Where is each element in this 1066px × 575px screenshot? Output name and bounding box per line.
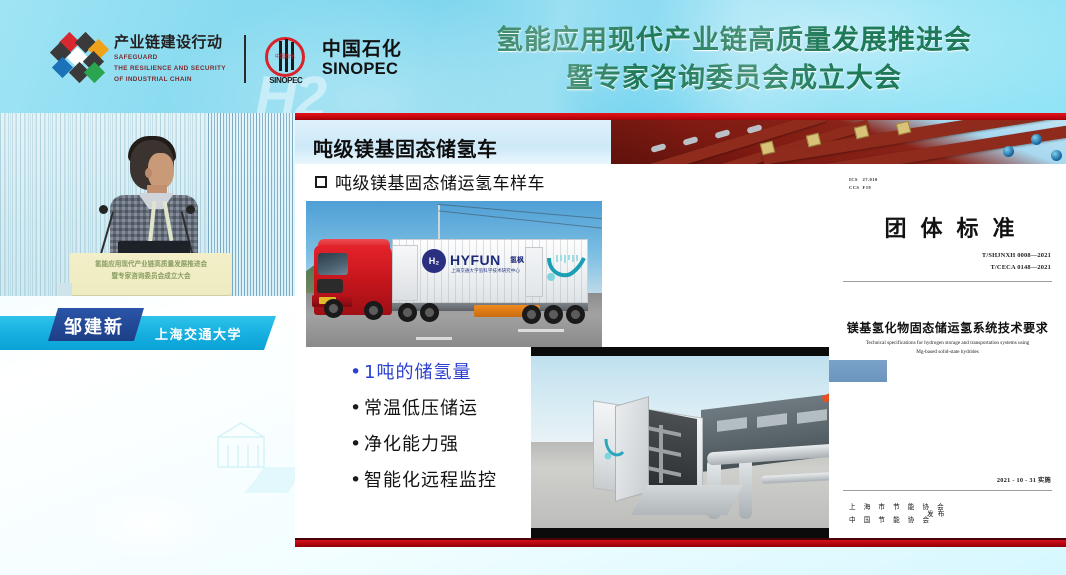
standard-doc-blue-tab — [829, 360, 887, 382]
wheel-rear-1 — [522, 305, 541, 324]
sinopec-cn-label: 中国石化 — [322, 39, 402, 61]
standard-code-1: T/SHJNXH 0008—2021 — [982, 250, 1051, 262]
standard-big-title: 团体标准 — [859, 211, 1054, 243]
slide-bullet-list: • 1吨的储氢量 • 常温低压储运 • 净化能力强 • 智能化远程监控 — [350, 358, 497, 502]
truck-grille — [317, 279, 343, 293]
background-decoration-icon — [210, 415, 306, 495]
speaker-name: 邹建新 — [64, 313, 124, 339]
bullet-item-2: • 常温低压储运 — [350, 394, 497, 420]
wheel-mid-2 — [420, 303, 439, 322]
podium-banner-text: 氢能应用现代产业链高质量发展推进会 暨专家咨询委员会成立大会 — [70, 259, 232, 282]
bullet-item-1: • 1吨的储氢量 — [350, 358, 497, 384]
speaker-name-plate: 邹建新 — [48, 308, 144, 341]
wheel-rear-2 — [544, 305, 563, 324]
standard-cn-title: 镁基氢化物固态储运氢系统技术要求 — [837, 319, 1058, 336]
truck-cab-window — [318, 253, 348, 275]
slide-top-red-bar — [295, 113, 1066, 120]
sinopec-en-label: SINOPEC — [322, 60, 402, 79]
safeguard-en-line1: SAFEGUARD — [114, 53, 226, 62]
standard-divider-top — [843, 281, 1052, 282]
sinopec-logo-text: 中国石化 SINOPEC — [322, 39, 402, 80]
conference-title-line1: 氢能应用现代产业链高质量发展推进会 — [424, 22, 1044, 60]
bullet-text-4: 智能化远程监控 — [364, 466, 497, 492]
truck-photo[interactable]: H₂ HYFUN 氢枫 上海交通大学氢科学技术研究中心 — [306, 201, 602, 347]
bullet-text-1: 1吨的储氢量 — [364, 358, 471, 384]
speaker-ear — [145, 168, 152, 178]
slide-title: 吨级镁基固态储氢车 — [313, 133, 498, 162]
square-bullet-icon — [315, 176, 327, 188]
microphone-head-left — [99, 205, 108, 214]
podium-banner-line1: 氢能应用现代产业链高质量发展推进会 — [70, 259, 232, 271]
hyfun-brand-text: HYFUN — [450, 252, 501, 268]
background-glow — [80, 490, 220, 560]
bullet-item-3: • 净化能力强 — [350, 430, 497, 456]
safeguard-diamond-logo-icon — [50, 33, 106, 85]
bullet-dot-4: • — [350, 471, 364, 490]
wheel-mid-1 — [398, 303, 417, 322]
standard-issue-verb: 发 布 — [927, 508, 945, 518]
standard-code-2: T/CECA 0148—2021 — [982, 262, 1051, 274]
standard-divider-bottom — [843, 490, 1052, 491]
standard-ics-code: ICS 27.010 CCS F19 — [849, 176, 878, 193]
bullet-dot-3: • — [350, 435, 364, 454]
slide-bottom-red-bar — [295, 540, 1066, 547]
presentation-slide[interactable]: 吨级镁基固态储氢车 吨级镁基固态储运氢车样车 H₂ HYFUN — [295, 113, 1066, 547]
bullet-dot-2: • — [350, 399, 364, 418]
slide-title-decorative-photo — [611, 120, 1066, 164]
conference-title-line2: 暨专家咨询委员会成立大会 — [424, 60, 1044, 98]
h2-watermark-text: H2 — [255, 64, 325, 113]
slide-subheading: 吨级镁基固态储运氢车样车 — [335, 169, 545, 194]
bullet-text-3: 净化能力强 — [364, 430, 459, 456]
hyfun-brand-label: HYFUN — [450, 252, 501, 268]
safeguard-en-line2: THE RESILIENCE AND SECURITY — [114, 64, 226, 73]
wheel-front — [324, 299, 343, 318]
standard-en-title-line1: Technical specifications for hydrogen st… — [843, 339, 1052, 348]
sinopec-emblem-cn: 中国石化 — [275, 53, 295, 60]
slide-title-band: 吨级镁基固态储氢车 — [295, 120, 1066, 164]
container-side-logo-icon — [603, 435, 629, 465]
sinopec-emblem-icon: 中国石化 SINOPEC — [262, 35, 310, 83]
bullet-item-4: • 智能化远程监控 — [350, 466, 497, 492]
standard-effective-date: 2021 - 10 - 31 实施 — [997, 475, 1051, 484]
standard-document-image[interactable]: ICS 27.010 CCS F19 团体标准 T/SHJNXH 0008—20… — [829, 164, 1066, 539]
wheel-cab-rear — [364, 301, 383, 320]
container-ramp — [631, 485, 743, 515]
container-swoosh-graphic — [546, 255, 588, 283]
speaker-affiliation: 上海交通大学 — [155, 324, 242, 343]
podium-banner-line2: 暨专家咨询委员会成立大会 — [70, 271, 232, 283]
standard-en-title: Technical specifications for hydrogen st… — [843, 339, 1052, 357]
safeguard-en-line3: OF INDUSTRIAL CHAIN — [114, 75, 226, 84]
bullet-dot-1: • — [350, 363, 364, 382]
container-door — [525, 247, 543, 297]
slide-body: 吨级镁基固态储运氢车样车 H₂ HYFUN 氢枫 上海交通大学氢科 — [295, 164, 1066, 539]
sinopec-emblem-wordmark: SINOPEC — [262, 76, 310, 85]
speaker-video-feed[interactable]: 氢能应用现代产业链高质量发展推进会 暨专家咨询委员会成立大会 — [0, 113, 295, 296]
container-end-box — [392, 245, 418, 301]
speaker-name-tag: 上海交通大学 邹建新 — [0, 316, 283, 350]
road-marking-1 — [416, 337, 452, 340]
bullet-text-2: 常温低压储运 — [364, 394, 478, 420]
safeguard-logo-text: 产业链建设行动 SAFEGUARD THE RESILIENCE AND SEC… — [114, 34, 226, 84]
h2-logo-badge: H₂ — [422, 249, 446, 273]
conference-header-banner: H2 产业链建设行动 SAFEGUARD THE RESILIENCE AND … — [0, 0, 1066, 113]
hyfun-brand-cn: 氢枫 — [510, 255, 524, 265]
podium-side — [58, 283, 72, 296]
logo-group: 产业链建设行动 SAFEGUARD THE RESILIENCE AND SEC… — [50, 33, 402, 85]
hyfun-brand-sub: 上海交通大学氢科学技术研究中心 — [451, 269, 520, 276]
road-marking-2 — [518, 329, 564, 332]
conference-title: 氢能应用现代产业链高质量发展推进会 暨专家咨询委员会成立大会 — [424, 22, 1044, 99]
storage-rack-post — [659, 425, 663, 483]
safeguard-cn-label: 产业链建设行动 — [114, 34, 226, 51]
logo-divider — [244, 35, 246, 83]
wheel-rear-3 — [566, 305, 585, 324]
microphone-head-right — [186, 205, 195, 214]
standard-en-title-line2: Mg-based solid-state hydrides — [843, 348, 1052, 357]
screen-root: H2 产业链建设行动 SAFEGUARD THE RESILIENCE AND … — [0, 0, 1066, 575]
standard-codes: T/SHJNXH 0008—2021 T/CECA 0148—2021 — [982, 250, 1051, 273]
